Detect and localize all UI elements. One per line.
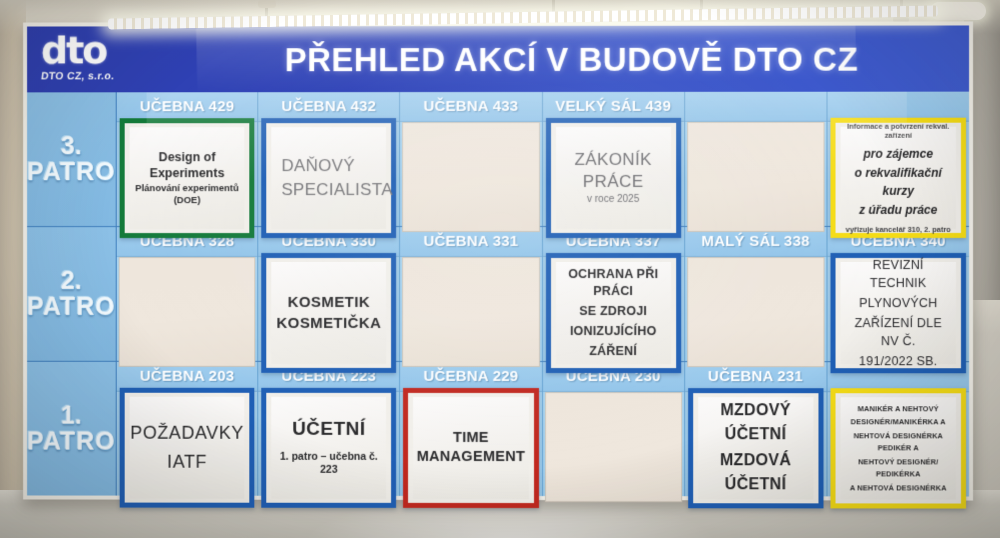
poster-line: MANIKÉR A NEHTOVÝ [858, 403, 939, 415]
poster-line: z úřadu práce [859, 202, 937, 219]
poster-line: ZÁKONÍK PRÁCE [560, 149, 667, 193]
poster-paper: DAŇOVÝSPECIALISTA [271, 127, 386, 229]
course-poster: POŽADAVKYIATF [120, 388, 255, 508]
room-column: UČEBNA 433 [400, 92, 542, 226]
room-cell [685, 122, 827, 226]
room-column: UČEBNA 432DAŇOVÝSPECIALISTA [258, 92, 400, 226]
poster-line: vyřizuje kancelář 310, 2. patro [846, 224, 951, 234]
poster-line: TIME MANAGEMENT [417, 429, 525, 466]
room-cell: KOSMETIKKOSMETIČKA [258, 257, 399, 361]
schedule-grid: 3.PATROUČEBNA 429Design of ExperimentsPl… [27, 92, 969, 497]
course-poster: TIME MANAGEMENT [403, 388, 538, 508]
ceiling-fixture [258, 0, 276, 8]
room-column: UČEBNA 331 [400, 227, 542, 361]
course-poster: DAŇOVÝSPECIALISTA [261, 118, 396, 238]
room-cell: DAŇOVÝSPECIALISTA [258, 122, 399, 226]
course-poster: Design of ExperimentsPlánování experimen… [120, 118, 255, 238]
poster-line: pro zájemce [863, 146, 933, 163]
room-column: UČEBNA 337OCHRANA PŘI PRÁCISE ZDROJIIONI… [543, 227, 685, 361]
page-title: PŘEHLED AKCÍ V BUDOVĚ DTO CZ [177, 33, 968, 86]
room-cell: Informace a potvrzení rekval. zařízenípr… [827, 122, 969, 226]
room-column: UČEBNA 223ÚČETNÍ1. patro – učebna č. 223 [258, 362, 400, 496]
floor-columns: UČEBNA 429Design of ExperimentsPlánování… [117, 92, 969, 226]
poster-line: KOSMETIK [288, 293, 370, 312]
floor-row: 2.PATROUČEBNA 328UČEBNA 330KOSMETIKKOSME… [27, 226, 969, 361]
room-cell: ÚČETNÍ1. patro – učebna č. 223 [258, 392, 399, 496]
poster-line: SE ZDROJI [579, 303, 647, 321]
poster-line: ÚČETNÍ [292, 418, 366, 442]
board-header: dto DTO CZ, s.r.o. PŘEHLED AKCÍ V BUDOVĚ… [27, 25, 969, 92]
room-column: UČEBNA 229TIME MANAGEMENT [400, 362, 542, 496]
room-column: UČEBNA 203POŽADAVKYIATF [117, 362, 259, 496]
room-cell: MZDOVÝ ÚČETNÍMZDOVÁ ÚČETNÍ [685, 392, 827, 496]
poster-line: Design of Experiments [134, 149, 241, 181]
empty-slot [545, 392, 682, 502]
poster-line: NEHTOVÁ DESIGNÉRKA PEDIKÉR A [844, 431, 952, 455]
poster-line: PLYNOVÝCH [859, 294, 937, 312]
wall-left-column [0, 0, 26, 538]
room-column: VELKÝ SÁL 439ZÁKONÍK PRÁCEv roce 2025 [543, 92, 685, 226]
course-poster: Informace a potvrzení rekval. zařízenípr… [830, 118, 966, 238]
poster-paper: Design of ExperimentsPlánování experimen… [130, 127, 245, 229]
room-column: UČEBNA 328 [117, 227, 259, 361]
floor-row: 3.PATROUČEBNA 429Design of ExperimentsPl… [27, 92, 969, 226]
poster-line: 1. patro – učebna č. 223 [275, 451, 382, 478]
poster-line: MZDOVÁ ÚČETNÍ [702, 449, 809, 497]
course-poster: ZÁKONÍK PRÁCEv roce 2025 [546, 118, 681, 238]
course-poster: OCHRANA PŘI PRÁCISE ZDROJIIONIZUJÍCÍHOZÁ… [546, 253, 681, 373]
room-column: UČEBNA 230 [543, 362, 685, 496]
floor-columns: UČEBNA 328UČEBNA 330KOSMETIKKOSMETIČKAUČ… [117, 227, 969, 361]
poster-line: DESIGNÉR/MANIKÉRKA A [851, 417, 946, 429]
course-poster: REVIZNÍ TECHNIKPLYNOVÝCHZAŘÍZENÍ DLE NV … [830, 253, 966, 373]
logo-company-name: DTO CZ, s.r.o. [40, 70, 171, 82]
floor-number: 1. [61, 402, 82, 428]
room-cell [400, 122, 541, 226]
room-column: MALÝ SÁL 338 [685, 227, 828, 361]
room-column: UČEBNA 330KOSMETIKKOSMETIČKA [258, 227, 400, 361]
course-poster: MZDOVÝ ÚČETNÍMZDOVÁ ÚČETNÍ [688, 388, 823, 508]
room-header: UČEBNA 433 [400, 92, 541, 122]
poster-paper: MANIKÉR A NEHTOVÝDESIGNÉR/MANIKÉRKA ANEH… [840, 397, 956, 499]
floor-number: 2. [61, 268, 82, 294]
empty-slot [687, 257, 825, 367]
room-cell [685, 257, 827, 361]
information-board: dto DTO CZ, s.r.o. PŘEHLED AKCÍ V BUDOVĚ… [23, 21, 973, 500]
poster-paper: OCHRANA PŘI PRÁCISE ZDROJIIONIZUJÍCÍHOZÁ… [556, 262, 671, 364]
room-cell: OCHRANA PŘI PRÁCISE ZDROJIIONIZUJÍCÍHOZÁ… [543, 257, 684, 361]
floor-row: 1.PATROUČEBNA 203POŽADAVKYIATFUČEBNA 223… [27, 361, 969, 497]
poster-line: NEHTOVÝ DESIGNÉR/ PEDIKÉRKA [844, 456, 952, 480]
empty-slot [402, 122, 539, 232]
poster-line: v roce 2025 [587, 194, 639, 207]
poster-line: DAŇOVÝ [281, 155, 354, 177]
room-cell: Design of ExperimentsPlánování experimen… [117, 122, 258, 226]
logo-wordmark: dto [41, 31, 171, 69]
poster-line: SPECIALISTA [281, 179, 392, 201]
course-poster: MANIKÉR A NEHTOVÝDESIGNÉR/MANIKÉRKA ANEH… [830, 388, 966, 508]
poster-line: o rekvalifikační kurzy [844, 165, 952, 200]
room-cell: TIME MANAGEMENT [400, 392, 541, 496]
poster-line: ZÁŘENÍ [589, 343, 637, 361]
empty-slot [402, 257, 539, 367]
dto-logo: dto DTO CZ, s.r.o. [41, 31, 171, 89]
empty-slot [119, 257, 256, 367]
room-header [685, 92, 827, 122]
poster-line: OCHRANA PŘI PRÁCI [560, 266, 667, 302]
room-cell [400, 257, 541, 361]
course-poster: ÚČETNÍ1. patro – učebna č. 223 [261, 388, 396, 508]
room-column: UČEBNA 340REVIZNÍ TECHNIKPLYNOVÝCHZAŘÍZE… [827, 227, 969, 361]
room-cell: MANIKÉR A NEHTOVÝDESIGNÉR/MANIKÉRKA ANEH… [827, 392, 969, 496]
floor-number: 3. [61, 133, 82, 159]
poster-line: MZDOVÝ ÚČETNÍ [702, 399, 809, 447]
poster-line: A NEHTOVÁ DESIGNÉRKA [850, 482, 947, 494]
poster-paper: ZÁKONÍK PRÁCEv roce 2025 [556, 127, 671, 229]
floor-word: PATRO [27, 429, 115, 455]
room-cell: POŽADAVKYIATF [117, 392, 258, 496]
room-cell [543, 392, 684, 496]
room-cell: REVIZNÍ TECHNIKPLYNOVÝCHZAŘÍZENÍ DLE NV … [827, 257, 969, 361]
floor-label: 1.PATRO [27, 362, 117, 496]
poster-paper: MZDOVÝ ÚČETNÍMZDOVÁ ÚČETNÍ [698, 397, 813, 499]
room-column [685, 92, 828, 226]
poster-paper: REVIZNÍ TECHNIKPLYNOVÝCHZAŘÍZENÍ DLE NV … [840, 262, 956, 364]
room-column: UČEBNA 429Design of ExperimentsPlánování… [117, 92, 259, 226]
poster-line: ZAŘÍZENÍ DLE NV Č. [844, 314, 952, 350]
room-column: Informace a potvrzení rekval. zařízenípr… [827, 92, 969, 226]
poster-line: Plánování experimentů (DOE) [134, 183, 241, 207]
poster-line: 191/2022 SB. [859, 352, 937, 370]
poster-paper: POŽADAVKYIATF [130, 397, 245, 499]
room-cell [117, 257, 258, 361]
poster-line: KOSMETIČKA [277, 314, 382, 333]
poster-line: IATF [167, 449, 207, 476]
poster-paper: Informace a potvrzení rekval. zařízenípr… [840, 127, 956, 229]
floor-columns: UČEBNA 203POŽADAVKYIATFUČEBNA 223ÚČETNÍ1… [117, 362, 969, 497]
poster-line: Informace a potvrzení rekval. zařízení [844, 122, 952, 141]
room-column: UČEBNA 231MZDOVÝ ÚČETNÍMZDOVÁ ÚČETNÍ [685, 362, 828, 496]
poster-line: POŽADAVKY [130, 420, 244, 447]
floor-word: PATRO [27, 159, 115, 185]
room-column: MANIKÉR A NEHTOVÝDESIGNÉR/MANIKÉRKA ANEH… [827, 362, 969, 496]
floor-label: 2.PATRO [27, 227, 117, 361]
floor-word: PATRO [27, 294, 115, 320]
poster-paper: KOSMETIKKOSMETIČKA [271, 262, 386, 364]
floor-label: 3.PATRO [27, 92, 117, 226]
poster-line: IONIZUJÍCÍHO [570, 323, 657, 341]
empty-slot [687, 122, 825, 232]
poster-line: REVIZNÍ TECHNIK [844, 256, 952, 292]
room-cell: ZÁKONÍK PRÁCEv roce 2025 [543, 122, 684, 226]
board-surface: dto DTO CZ, s.r.o. PŘEHLED AKCÍ V BUDOVĚ… [27, 25, 969, 496]
poster-paper: TIME MANAGEMENT [413, 397, 528, 499]
poster-paper: ÚČETNÍ1. patro – učebna č. 223 [271, 397, 386, 499]
course-poster: KOSMETIKKOSMETIČKA [261, 253, 396, 373]
ceiling-light-panel [930, 2, 986, 20]
